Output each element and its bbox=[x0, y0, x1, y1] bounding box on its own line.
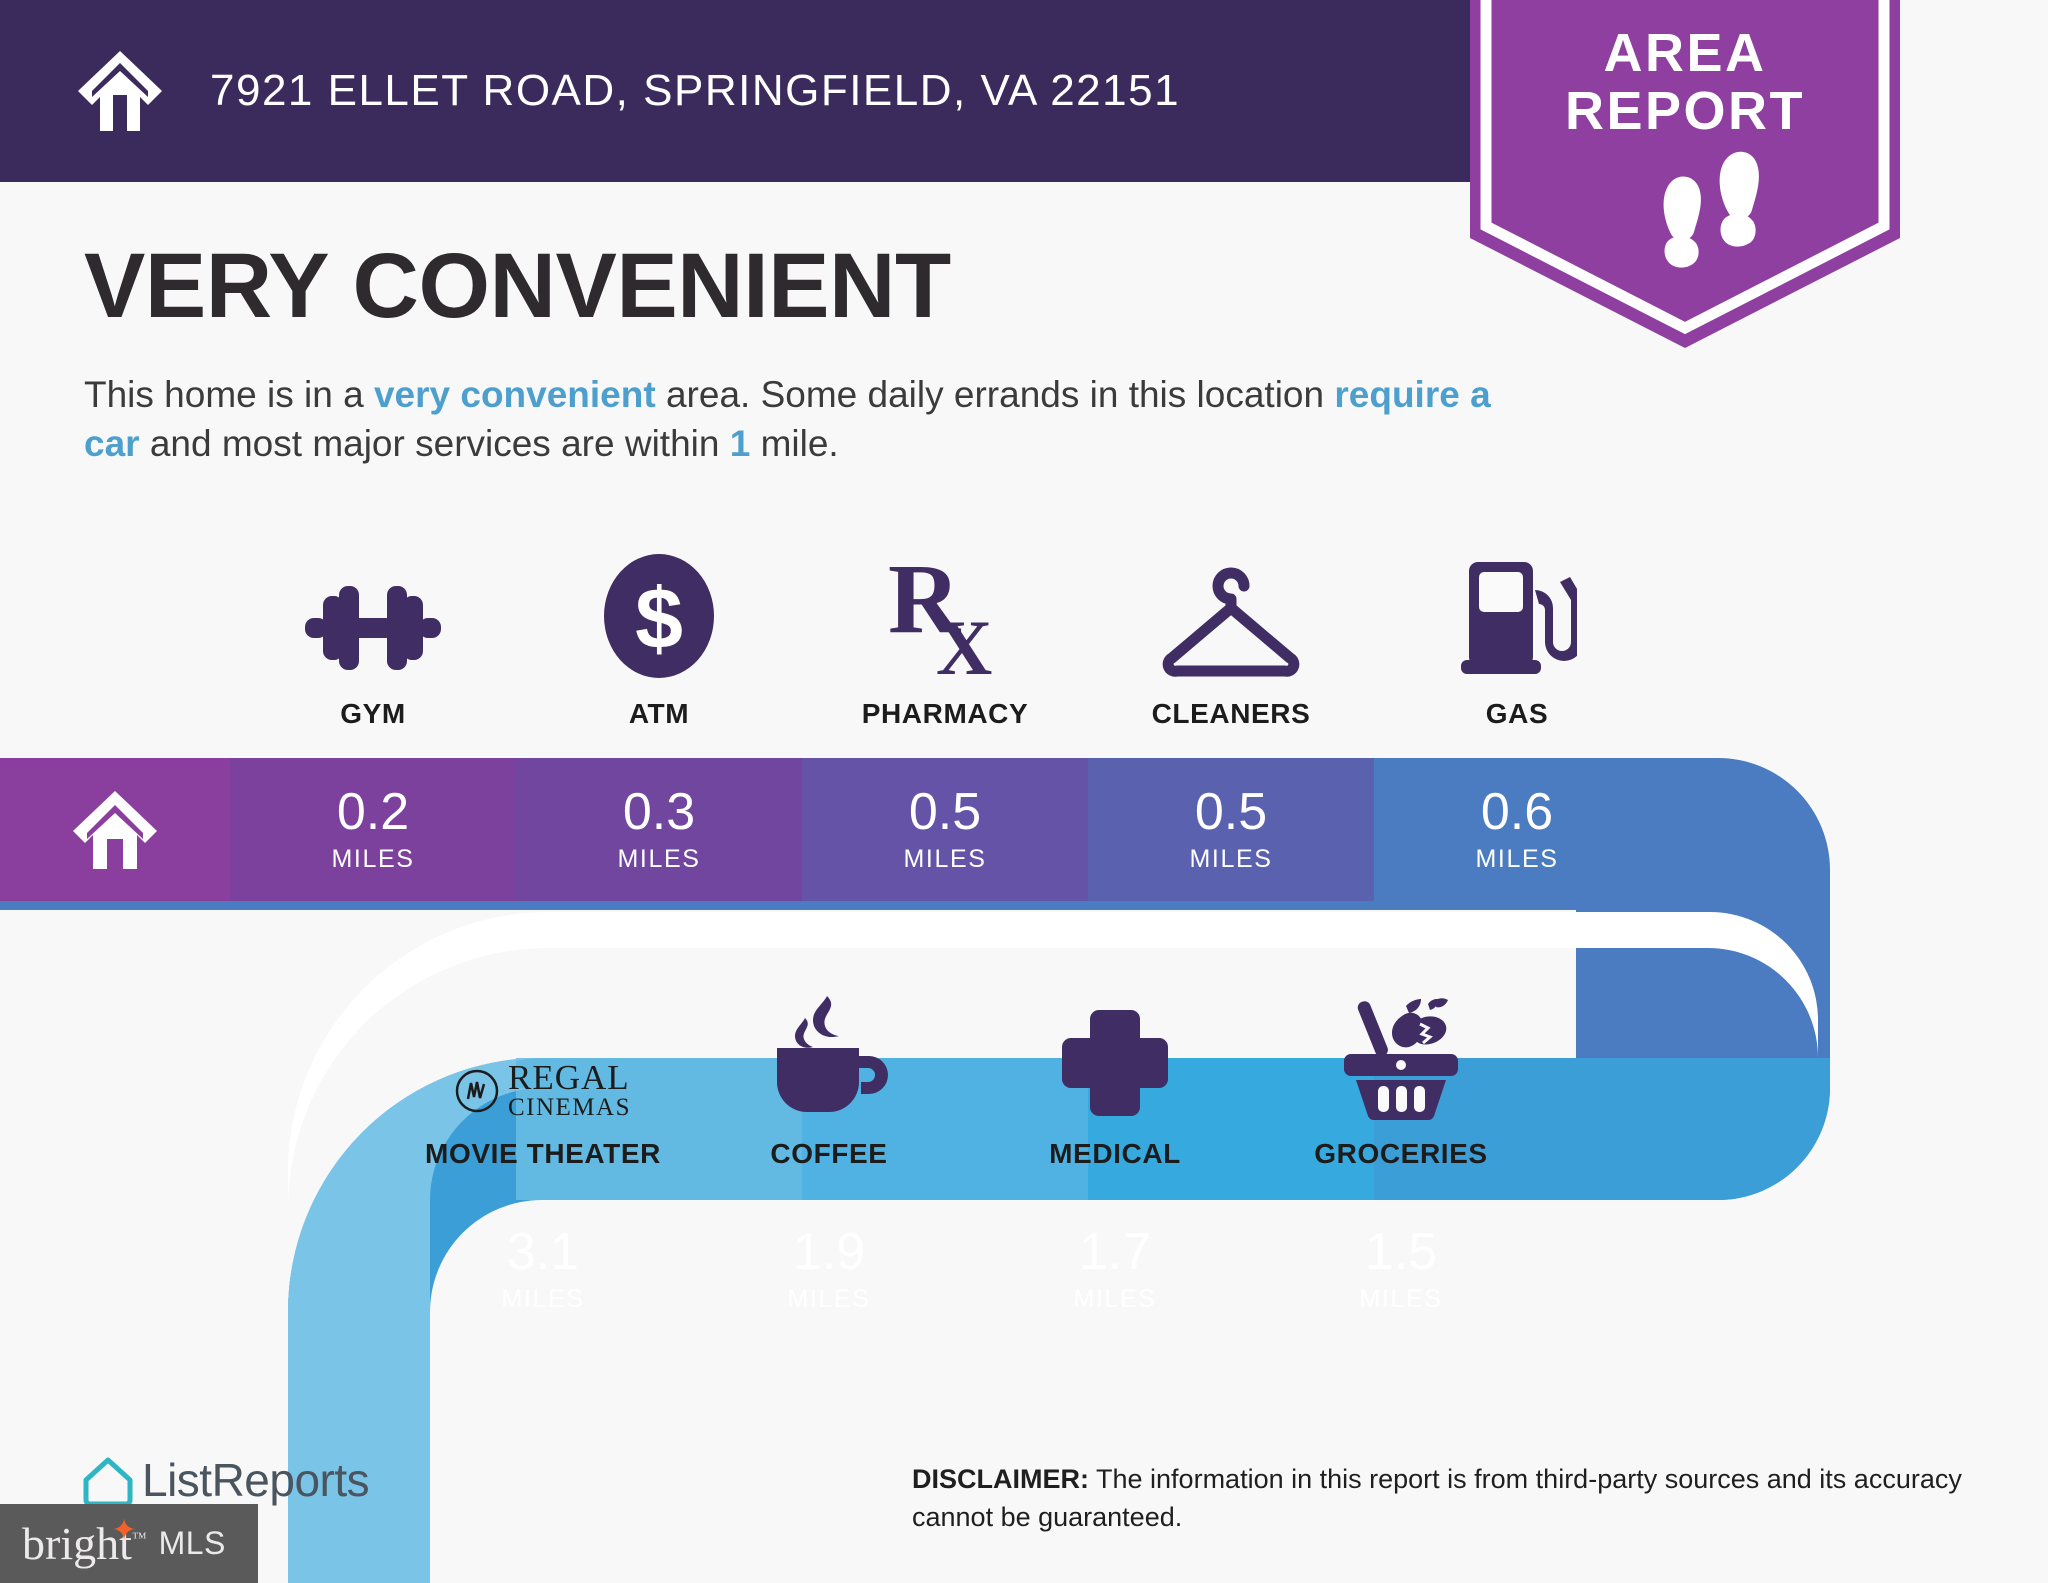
grocery-basket-icon bbox=[1336, 988, 1466, 1120]
amenity-icon-row-lower: REGAL CINEMAS MOVIE THEATER COFF bbox=[400, 988, 1544, 1170]
distance-value: 0.2 bbox=[337, 786, 409, 838]
amenity-medical: MEDICAL bbox=[972, 988, 1258, 1170]
distance-value: 0.5 bbox=[909, 786, 981, 838]
disclaimer-label: DISCLAIMER: bbox=[912, 1464, 1089, 1494]
medical-cross-icon bbox=[1058, 988, 1172, 1120]
amenity-label: CLEANERS bbox=[1152, 698, 1311, 730]
listreports-house-icon bbox=[80, 1452, 136, 1508]
home-marker-icon bbox=[0, 758, 230, 901]
distance-value: 1.9 bbox=[793, 1226, 865, 1278]
amenity-gym: GYM bbox=[230, 548, 516, 730]
amenity-label: GYM bbox=[340, 698, 406, 730]
summary-highlight-1: very convenient bbox=[374, 374, 656, 415]
disclaimer: DISCLAIMER: The information in this repo… bbox=[912, 1460, 1972, 1537]
distance-cell: 1.9 MILES bbox=[686, 1198, 972, 1341]
distance-unit: MILES bbox=[1475, 845, 1558, 874]
amenity-coffee: COFFEE bbox=[686, 988, 972, 1170]
distance-unit: MILES bbox=[903, 845, 986, 874]
distance-cell: 0.3 MILES bbox=[516, 758, 802, 901]
regal-cinemas-logo: REGAL CINEMAS bbox=[455, 988, 631, 1120]
badge-line-2: REPORT bbox=[1470, 82, 1900, 140]
amenity-label: COFFEE bbox=[770, 1138, 887, 1170]
distance-value: 0.6 bbox=[1481, 786, 1553, 838]
regal-line-1: REGAL bbox=[508, 1061, 631, 1095]
badge-line-1: AREA bbox=[1470, 24, 1900, 82]
distance-unit: MILES bbox=[1359, 1285, 1442, 1314]
summary-part-2: area. Some daily errands in this locatio… bbox=[656, 374, 1335, 415]
star-icon: ✦ bbox=[111, 1513, 136, 1548]
amenity-label: GAS bbox=[1486, 698, 1548, 730]
amenity-icon-row-upper: GYM $ ATM R X PHARMACY bbox=[230, 548, 1660, 730]
distance-unit: MILES bbox=[501, 1285, 584, 1314]
distance-value: 1.7 bbox=[1079, 1226, 1151, 1278]
regal-line-2: CINEMAS bbox=[508, 1096, 631, 1121]
distance-value: 0.5 bbox=[1195, 786, 1267, 838]
distance-cell: 1.7 MILES bbox=[972, 1198, 1258, 1341]
bright-mls-wordmark: bright™ ✦ bbox=[22, 1517, 147, 1570]
amenity-groceries: GROCERIES bbox=[1258, 988, 1544, 1170]
amenity-label: PHARMACY bbox=[862, 698, 1029, 730]
distance-row-lower: 3.1 MILES 1.9 MILES 1.7 MILES 1.5 MILES bbox=[400, 1198, 1544, 1341]
dollar-coin-icon: $ bbox=[604, 548, 714, 680]
svg-text:$: $ bbox=[635, 571, 683, 667]
svg-text:X: X bbox=[936, 604, 992, 680]
distance-cell: 0.2 MILES bbox=[230, 758, 516, 901]
amenity-label: MOVIE THEATER bbox=[425, 1138, 661, 1170]
distance-cell: 0.5 MILES bbox=[802, 758, 1088, 901]
distance-cell: 3.1 MILES bbox=[400, 1198, 686, 1341]
listreports-logo: ListReports bbox=[80, 1452, 369, 1508]
badge-label: AREA REPORT bbox=[1470, 24, 1900, 141]
home-icon bbox=[72, 47, 168, 135]
amenity-label: MEDICAL bbox=[1049, 1138, 1181, 1170]
area-report-badge: AREA REPORT bbox=[1470, 0, 1900, 418]
coffee-cup-icon bbox=[767, 988, 891, 1120]
summary-part-1: This home is in a bbox=[84, 374, 374, 415]
distance-cell: 0.6 MILES bbox=[1374, 758, 1660, 901]
summary-part-4: mile. bbox=[750, 423, 838, 464]
gas-pump-icon bbox=[1457, 548, 1577, 680]
distance-unit: MILES bbox=[1189, 845, 1272, 874]
amenity-label: GROCERIES bbox=[1314, 1138, 1487, 1170]
distance-cell: 1.5 MILES bbox=[1258, 1198, 1544, 1341]
amenity-cleaners: CLEANERS bbox=[1088, 548, 1374, 730]
hanger-icon bbox=[1154, 548, 1308, 680]
dumbbell-icon bbox=[301, 548, 445, 680]
distance-cell: 0.5 MILES bbox=[1088, 758, 1374, 901]
amenity-movie-theater: REGAL CINEMAS MOVIE THEATER bbox=[400, 988, 686, 1170]
property-address: 7921 ELLET ROAD, SPRINGFIELD, VA 22151 bbox=[210, 66, 1180, 116]
distance-value: 1.5 bbox=[1365, 1226, 1437, 1278]
rx-icon: R X bbox=[886, 548, 1004, 680]
amenity-atm: $ ATM bbox=[516, 548, 802, 730]
summary-highlight-3: 1 bbox=[730, 423, 751, 464]
summary-text: This home is in a very convenient area. … bbox=[84, 370, 1504, 468]
header-bar: 7921 ELLET ROAD, SPRINGFIELD, VA 22151 bbox=[0, 0, 1488, 182]
listreports-name: ListReports bbox=[142, 1453, 369, 1507]
amenity-label: ATM bbox=[629, 698, 689, 730]
page-title: VERY CONVENIENT bbox=[84, 234, 951, 339]
bright-mls-badge: bright™ ✦ MLS bbox=[0, 1504, 258, 1583]
distance-unit: MILES bbox=[787, 1285, 870, 1314]
distance-unit: MILES bbox=[1073, 1285, 1156, 1314]
amenity-pharmacy: R X PHARMACY bbox=[802, 548, 1088, 730]
amenity-gas: GAS bbox=[1374, 548, 1660, 730]
distance-row-upper: 0.2 MILES 0.3 MILES 0.5 MILES 0.5 MILES … bbox=[230, 758, 1660, 901]
distance-value: 0.3 bbox=[623, 786, 695, 838]
mls-label: MLS bbox=[159, 1525, 226, 1562]
summary-part-3: and most major services are within bbox=[140, 423, 730, 464]
distance-unit: MILES bbox=[617, 845, 700, 874]
distance-unit: MILES bbox=[331, 845, 414, 874]
area-report-page: 7921 ELLET ROAD, SPRINGFIELD, VA 22151 A… bbox=[0, 0, 2048, 1583]
distance-value: 3.1 bbox=[507, 1226, 579, 1278]
